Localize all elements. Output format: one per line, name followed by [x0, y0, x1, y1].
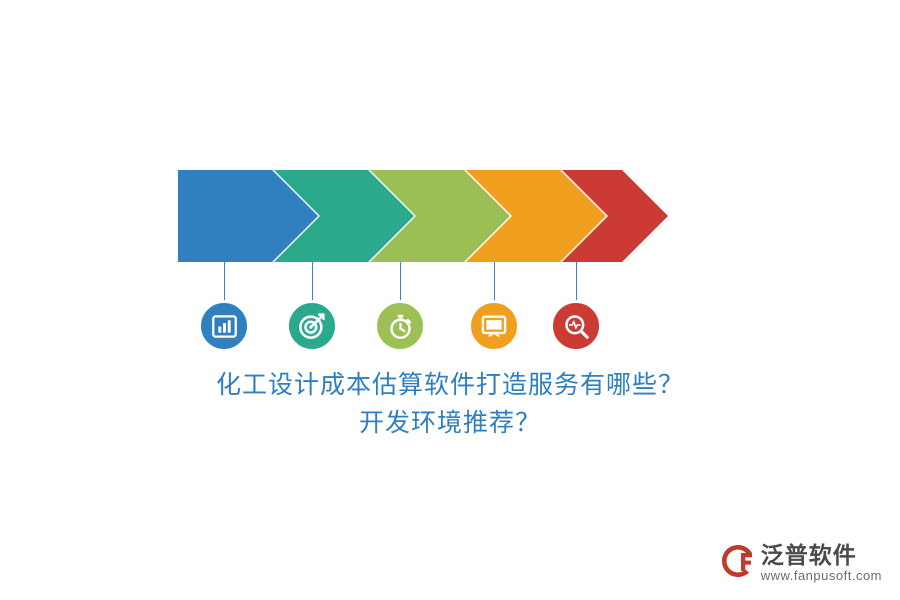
fanpu-logo-icon: [721, 544, 755, 583]
connector-line-3: [400, 262, 401, 304]
magnifier-pulse-icon: [563, 313, 590, 340]
bar-chart-icon: [211, 313, 238, 340]
connector-line-4: [494, 262, 495, 304]
step-icon-4[interactable]: [468, 300, 520, 352]
connector-line-1: [224, 262, 225, 304]
connector-line-2: [312, 262, 313, 304]
brand-name: 泛普软件: [761, 542, 857, 568]
step-icon-1[interactable]: [198, 300, 250, 352]
stopwatch-icon: [387, 313, 414, 340]
target-icon: [298, 312, 326, 340]
headline-line-2: 开发环境推荐？: [0, 404, 900, 442]
step-icon-3[interactable]: [374, 300, 426, 352]
headline: 化工设计成本估算软件打造服务有哪些？ 开发环境推荐？: [0, 366, 900, 442]
connector-line-5: [576, 262, 577, 304]
brand-url: www.fanpusoft.com: [761, 568, 882, 584]
chevron-step-5: [562, 170, 668, 262]
headline-line-1: 化工设计成本估算软件打造服务有哪些？: [0, 366, 900, 404]
step-icon-2[interactable]: [286, 300, 338, 352]
brand-watermark: 泛普软件 www.fanpusoft.com: [721, 542, 882, 584]
step-icon-5[interactable]: [550, 300, 602, 352]
presentation-board-icon: [480, 312, 508, 340]
process-chevron-band: [178, 170, 668, 262]
